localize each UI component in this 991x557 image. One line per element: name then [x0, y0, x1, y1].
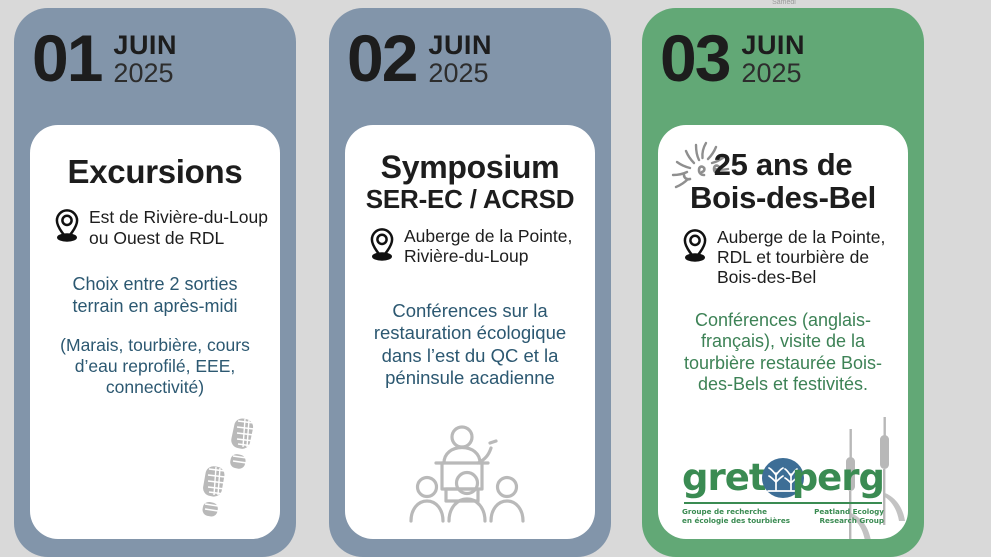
year-label: 2025	[113, 60, 177, 88]
event-card-02[interactable]: 02 JUIN 2025	[329, 8, 611, 557]
date-header: 02 JUIN 2025	[329, 8, 611, 102]
map-pin-icon	[367, 227, 397, 261]
card-title: Excursions	[42, 155, 268, 189]
card-title: Symposium	[357, 151, 583, 184]
day-number: 01	[32, 28, 101, 89]
location-row: Est de Rivière-du-Loupou Ouest de RDL	[52, 207, 268, 248]
card-description: Conférences (anglais-français), visite d…	[670, 310, 896, 396]
month-label: JUIN	[741, 32, 805, 60]
card-subtitle: SER-EC / ACRSD	[357, 186, 583, 213]
logo-divider	[684, 502, 882, 504]
month-year: JUIN 2025	[741, 28, 805, 87]
event-schedule-board: 01 JUIN 2025	[0, 0, 991, 557]
date-header: 01 JUIN 2025	[14, 8, 296, 102]
location-text: Auberge de la Pointe,RDL et tourbière de…	[717, 227, 885, 288]
logo-tagline-fr: Groupe de rechercheen écologie des tourb…	[682, 507, 790, 525]
logo-tagline: Groupe de rechercheen écologie des tourb…	[678, 507, 888, 525]
day-number: 02	[347, 28, 416, 89]
card-title: 25 ans deBois-des-Bel	[670, 149, 896, 215]
card-body-panel: Symposium SER-EC / ACRSD Auberge de la P…	[345, 125, 595, 539]
map-pin-icon	[680, 228, 710, 262]
card-content: Excursions Est de Rivière-du-Loupou Oues…	[30, 155, 280, 539]
card-body-panel: Excursions Est de Rivière-du-Loupou Oues…	[30, 125, 280, 539]
month-year: JUIN 2025	[113, 28, 177, 87]
day-number: 03	[660, 28, 729, 89]
event-card-03[interactable]: 03 JUIN 2025	[642, 8, 924, 557]
month-year: JUIN 2025	[428, 28, 492, 87]
location-row: Auberge de la Pointe,RDL et tourbière de…	[680, 227, 896, 288]
gret-perg-logo[interactable]: gret	[678, 456, 888, 525]
location-row: Auberge de la Pointe,Rivière-du-Loup	[367, 226, 583, 267]
year-label: 2025	[741, 60, 805, 88]
card-description: Conférences sur larestauration écologiqu…	[357, 300, 583, 389]
month-label: JUIN	[428, 32, 492, 60]
logo-wordmark: gret	[678, 456, 888, 500]
year-label: 2025	[428, 60, 492, 88]
location-text: Est de Rivière-du-Loupou Ouest de RDL	[89, 207, 268, 248]
top-cutoff-text: Samedi	[724, 0, 844, 5]
card-description: Choix entre 2 sortiesterrain en après-mi…	[42, 274, 268, 317]
logo-tagline-en: Peatland EcologyResearch Group	[814, 507, 884, 525]
logo-word-right: perg	[792, 456, 884, 500]
date-header: 03 JUIN 2025	[642, 8, 924, 102]
card-body-panel: 25 ans deBois-des-Bel Auberge de la Poin…	[658, 125, 908, 539]
card-description-secondary: (Marais, tourbière, coursd’eau reprofilé…	[42, 335, 268, 398]
event-card-01[interactable]: 01 JUIN 2025	[14, 8, 296, 557]
location-text: Auberge de la Pointe,Rivière-du-Loup	[404, 226, 572, 267]
card-content: Symposium SER-EC / ACRSD Auberge de la P…	[345, 151, 595, 539]
month-label: JUIN	[113, 32, 177, 60]
map-pin-icon	[52, 208, 82, 242]
logo-word-left: gret	[682, 456, 766, 500]
